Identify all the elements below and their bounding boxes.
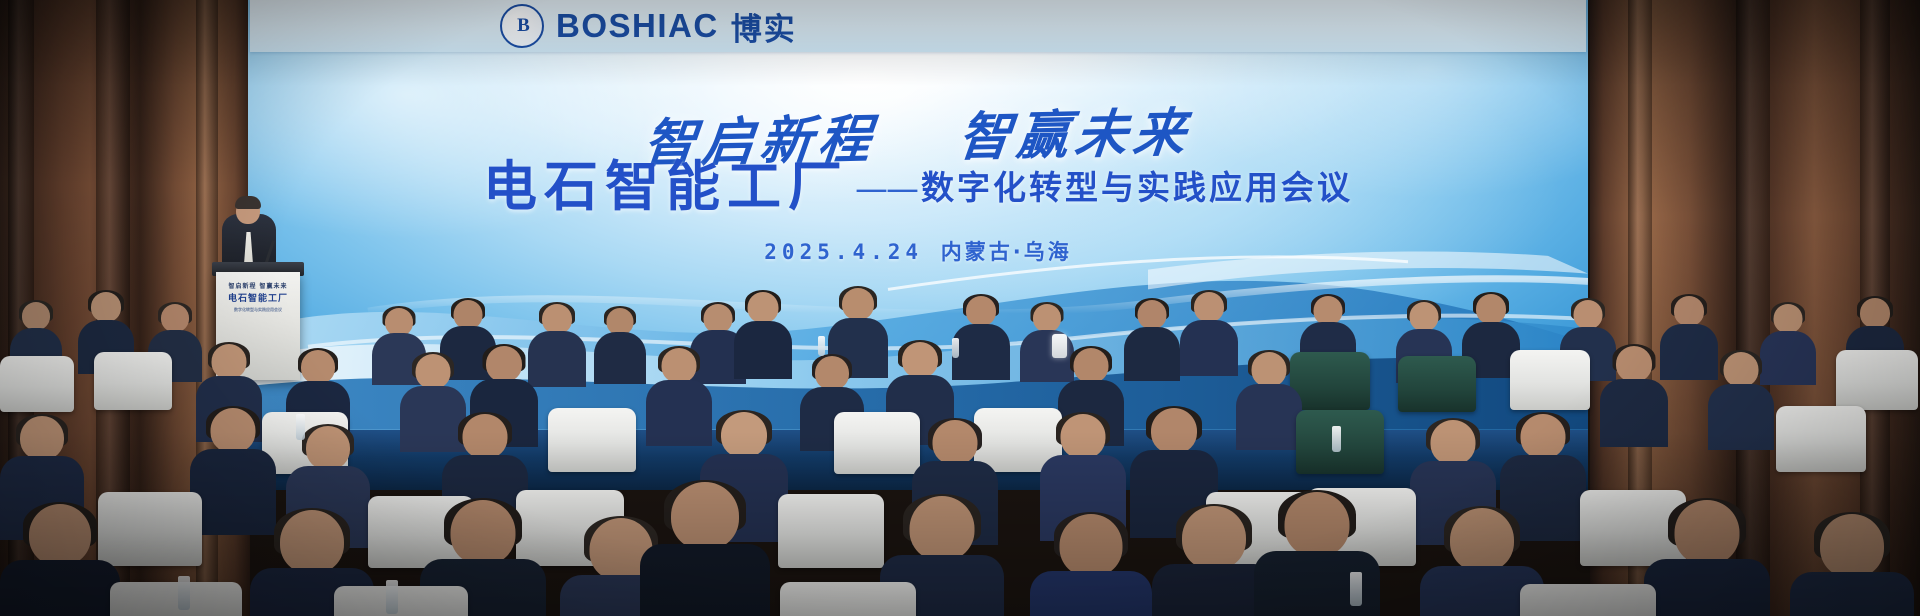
audience-area: [0, 286, 1920, 616]
speaker-hair: [235, 196, 261, 209]
audience-chair: [110, 582, 242, 616]
audience-person: [1180, 292, 1238, 374]
audience-chair: [1836, 350, 1918, 410]
audience-chair: [1398, 356, 1476, 412]
screen-title-main: 电石智能工厂: [483, 160, 849, 214]
water-bottle: [1350, 572, 1362, 606]
audience-person: [1030, 514, 1152, 616]
water-bottle: [818, 336, 825, 356]
water-bottle: [952, 338, 959, 358]
screen-title-row: 电石智能工厂 —— 数字化转型与实践应用会议: [248, 160, 1588, 214]
audience-person: [640, 482, 770, 616]
audience-chair: [94, 352, 172, 410]
brand-name-cn: 博实: [731, 4, 797, 49]
audience-person: [1644, 500, 1770, 616]
audience-chair: [778, 494, 884, 568]
screen-title-dash: ——: [849, 169, 921, 214]
water-bottle: [178, 576, 190, 610]
screen-event-date: 2025.4.24: [764, 240, 923, 264]
audience-chair: [1510, 350, 1590, 410]
water-bottle: [1332, 426, 1341, 452]
attendee-phone: [1052, 334, 1067, 358]
stage-brand-bar: B BOSHIAC 博实: [250, 0, 1586, 52]
screen-date-row: 2025.4.24 内蒙古·乌海: [248, 236, 1588, 266]
audience-chair: [1776, 406, 1866, 472]
audience-person: [952, 296, 1010, 378]
audience-person: [734, 292, 792, 376]
boshiac-logo-icon: B: [500, 4, 544, 48]
audience-person: [1236, 352, 1302, 446]
audience-chair: [780, 582, 916, 616]
water-bottle: [296, 414, 305, 440]
calligraphy-right: 智赢未来: [956, 103, 1195, 168]
audience-chair: [548, 408, 636, 472]
water-bottle: [386, 580, 398, 614]
conference-photo: 智启新程 智赢未来 电石智能工厂 —— 数字化转型与实践应用会议 2025.4.…: [0, 0, 1920, 616]
audience-person: [0, 504, 120, 616]
audience-person: [1790, 514, 1914, 616]
calligraphy-gap: [899, 156, 933, 157]
audience-person: [594, 308, 646, 382]
brand-name-en: BOSHIAC: [556, 7, 719, 45]
audience-chair: [334, 586, 468, 616]
audience-chair: [1520, 584, 1656, 616]
audience-chair: [834, 412, 920, 474]
audience-person: [1124, 300, 1180, 378]
audience-chair: [1290, 352, 1370, 410]
audience-chair: [0, 356, 74, 412]
audience-person: [1600, 346, 1668, 444]
screen-event-place: 内蒙古·乌海: [941, 240, 1072, 264]
audience-person: [1708, 352, 1774, 446]
screen-title-subtitle: 数字化转型与实践应用会议: [921, 161, 1353, 214]
